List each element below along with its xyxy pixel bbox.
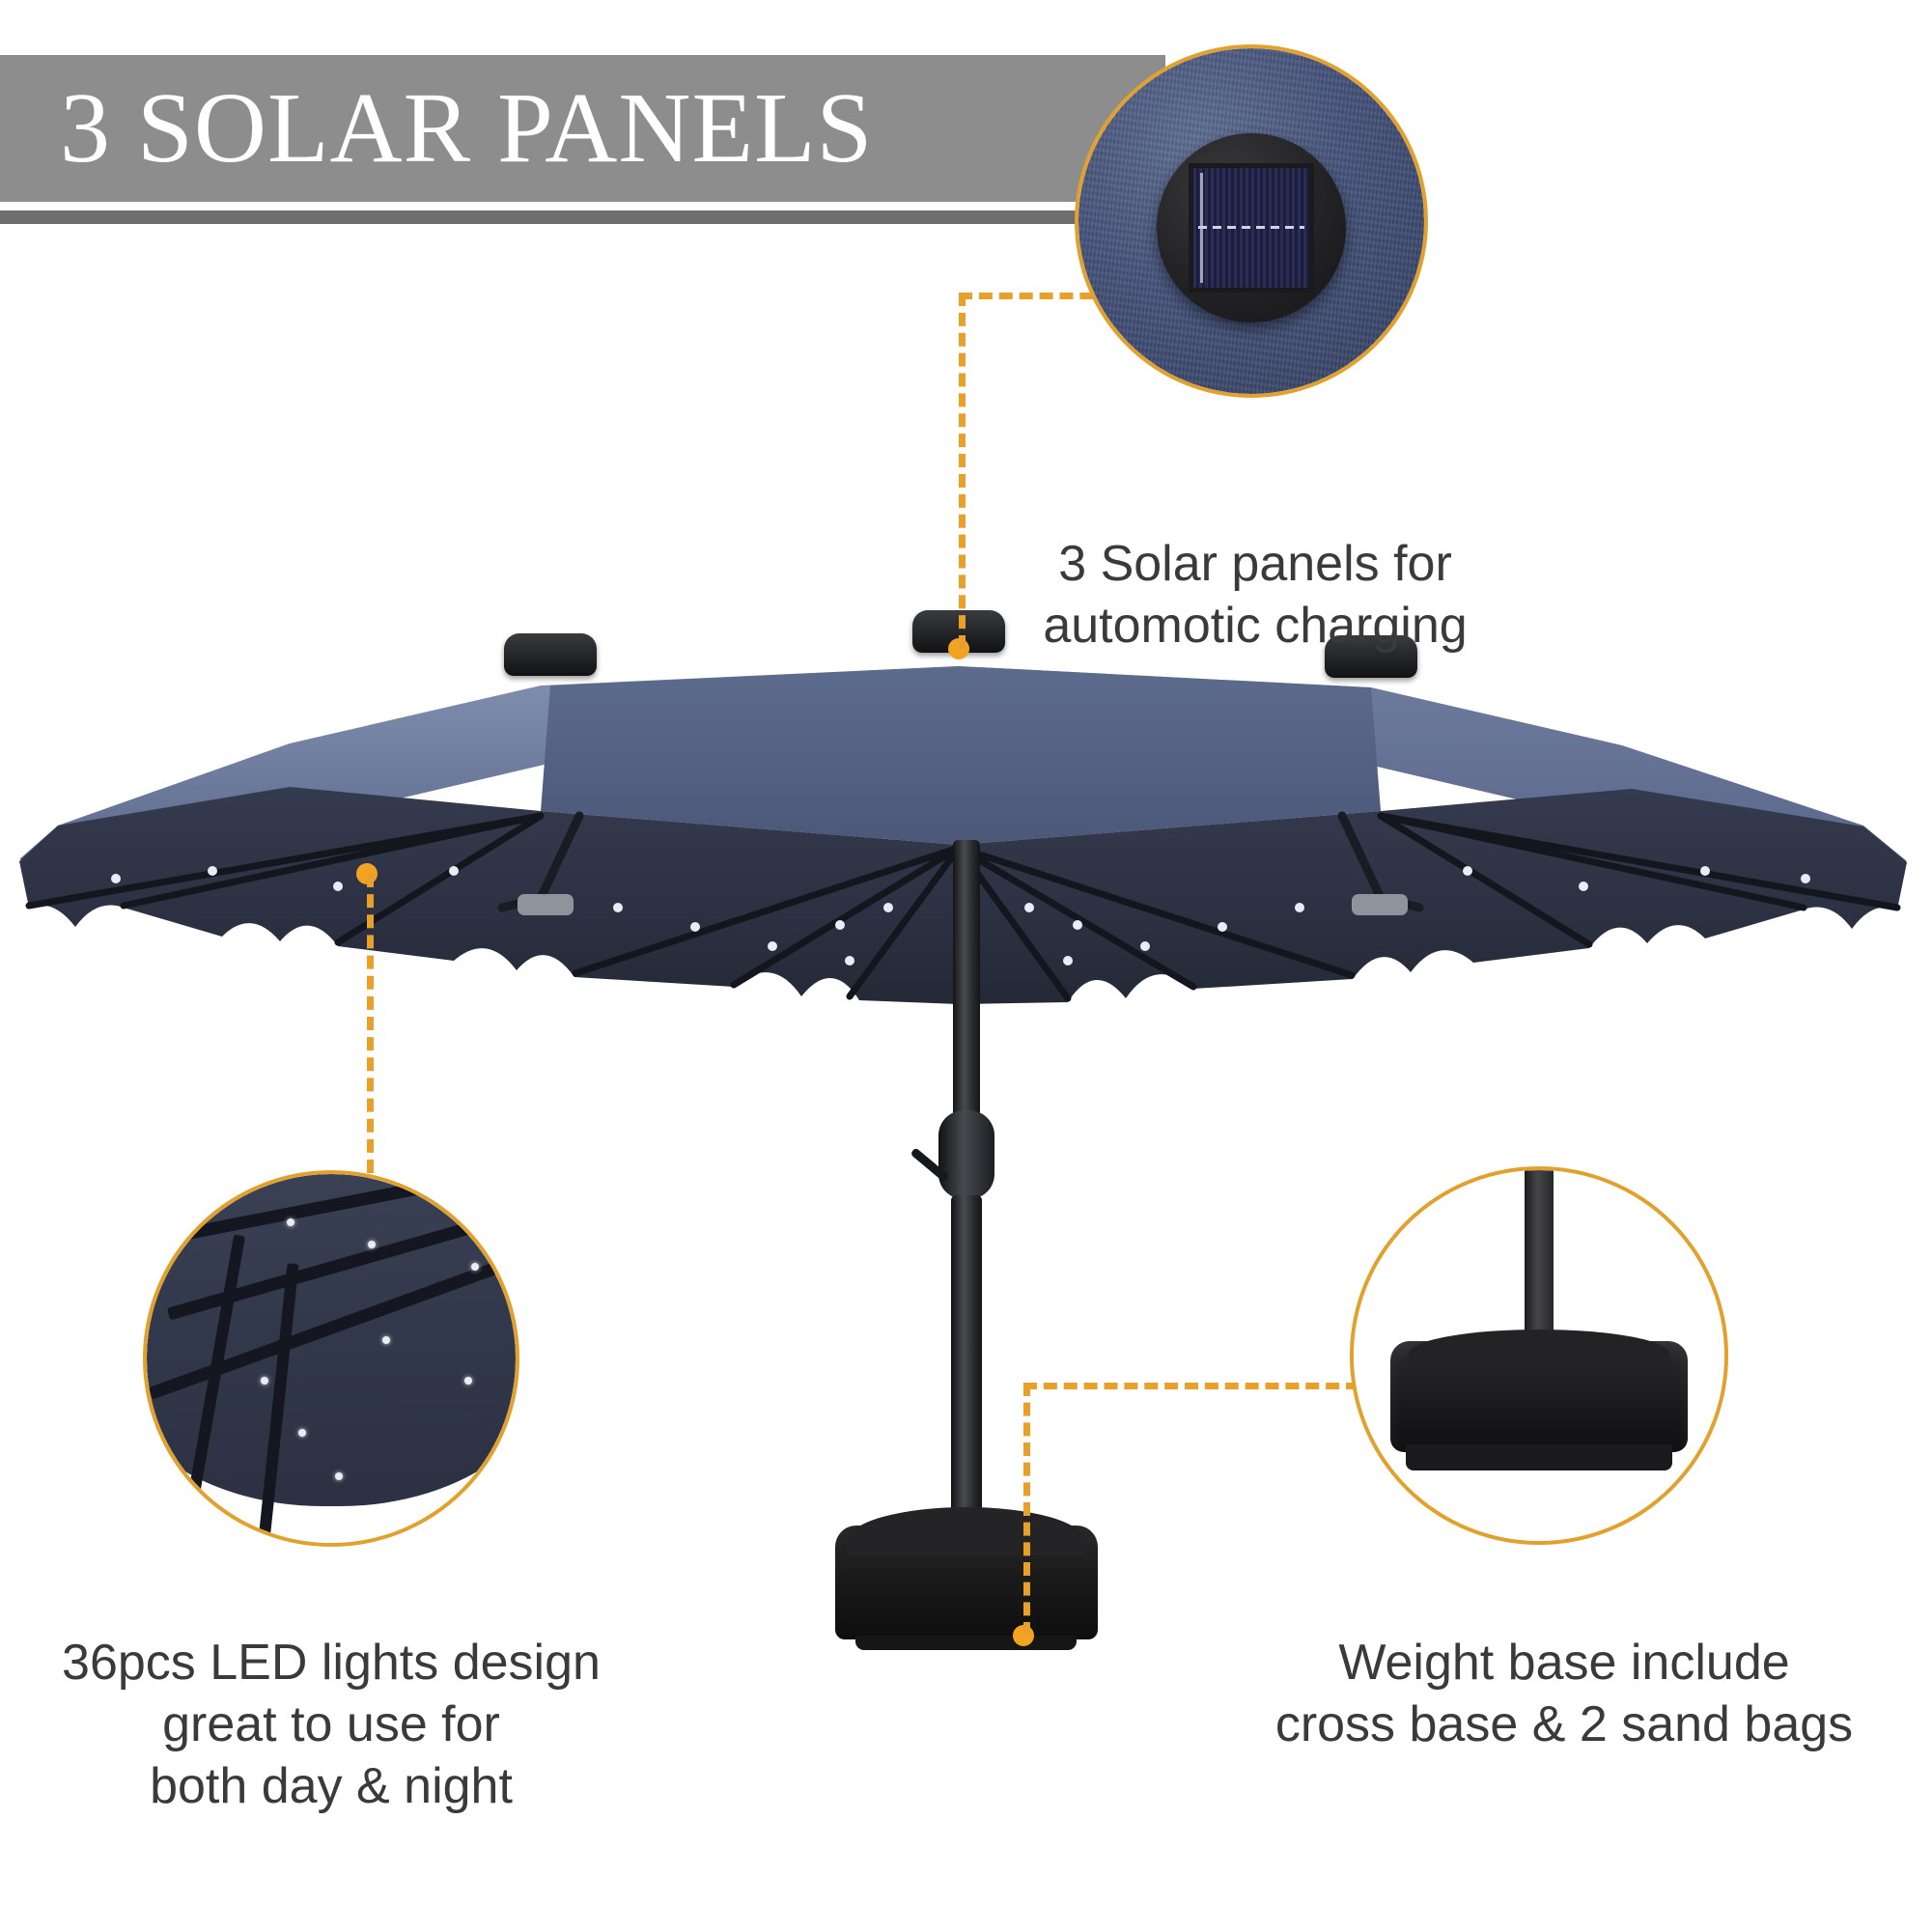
umbrella-pole-upper <box>953 840 980 1120</box>
led-light <box>368 1241 376 1248</box>
title-banner: 3 SOLAR PANELS <box>0 55 1165 202</box>
caption-solar: 3 Solar panels for automotic charging <box>1014 533 1497 657</box>
crank-housing <box>938 1110 994 1199</box>
photovoltaic-cell <box>1189 163 1314 293</box>
weight-base-photo <box>1354 1170 1724 1541</box>
connector-line-solar-vertical <box>959 293 966 649</box>
caption-base: Weight base include cross base & 2 sand … <box>1246 1632 1883 1755</box>
connector-line-base-vertical <box>1023 1383 1030 1636</box>
led-light <box>287 1218 294 1226</box>
led-light <box>471 1263 479 1271</box>
solar-housing <box>1157 133 1346 322</box>
title-underline-bar <box>0 210 1159 224</box>
solar-hub-left <box>504 633 597 676</box>
cross-base-foot <box>1406 1444 1672 1470</box>
caption-led: 36pcs LED lights design great to use for… <box>42 1632 621 1817</box>
sand-bag-pad <box>1390 1341 1687 1452</box>
led-canopy-photo <box>147 1174 516 1543</box>
umbrella-weight-base <box>835 1526 1098 1639</box>
solar-panel-photo <box>1078 48 1424 394</box>
caption-led-line-3: both day & night <box>42 1755 621 1817</box>
caption-base-line-2: cross base & 2 sand bags <box>1246 1694 1883 1755</box>
callout-circle-solar-panel <box>1075 44 1428 398</box>
page-title: 3 SOLAR PANELS <box>0 78 873 179</box>
umbrella-pole-lower <box>951 1195 982 1554</box>
led-light <box>464 1377 472 1385</box>
caption-led-line-2: great to use for <box>42 1694 621 1755</box>
connector-line-led-vertical <box>367 874 374 1173</box>
caption-solar-line-2: automotic charging <box>1014 595 1497 657</box>
callout-circle-weight-base <box>1350 1166 1728 1545</box>
led-scene <box>147 1174 516 1543</box>
callout-circle-led-lights <box>143 1170 519 1547</box>
caption-solar-line-1: 3 Solar panels for <box>1014 533 1497 595</box>
infographic-canvas: 3 SOLAR PANELS <box>0 0 1932 1932</box>
caption-base-line-1: Weight base include <box>1246 1632 1883 1694</box>
caption-led-line-1: 36pcs LED lights design <box>42 1632 621 1694</box>
connector-line-base-horizontal <box>1023 1383 1359 1389</box>
base-scene <box>1354 1170 1724 1541</box>
led-light <box>298 1429 306 1437</box>
